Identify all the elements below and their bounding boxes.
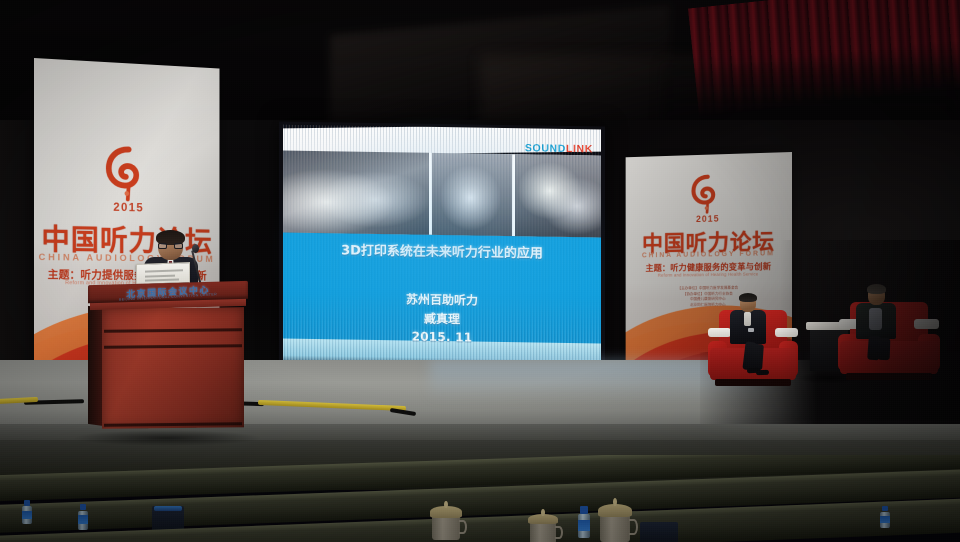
speaker-nameplate — [136, 262, 190, 285]
podium-front-panel — [102, 307, 244, 428]
lidded-teacup — [432, 506, 460, 540]
guest-hair — [867, 284, 886, 294]
ear-spiral-logo — [689, 172, 726, 216]
lidded-teacup — [600, 504, 630, 542]
smiling-child-photo — [515, 154, 601, 237]
boy-with-hearing-aid-photo — [283, 151, 429, 235]
soundlink-logo-link: LINK — [566, 143, 593, 155]
guest-leg — [751, 344, 764, 371]
guest-hair — [739, 293, 757, 302]
eyeglasses — [158, 243, 183, 249]
seated-guest-with-phone — [726, 294, 784, 386]
water-bottle — [22, 500, 32, 524]
projection-screen: SOUNDLINK 3D打印系统在未来听力行业的应用 苏州百助听力 臧真理 20… — [279, 121, 605, 374]
banner-title-en: CHINA AUDIOLOGY FORUM — [626, 250, 792, 260]
guest-shirt — [744, 312, 751, 326]
slide-photo-strip — [283, 151, 601, 238]
child-hearing-test-photo — [432, 153, 512, 236]
soundlink-logo-sound: SOUND — [525, 142, 566, 155]
soundlink-logo: SOUNDLINK — [525, 142, 593, 155]
dark-container — [640, 522, 678, 542]
wooden-podium: 北京国际会议中心 BEIJING INTERNATIONAL CONVENTIO… — [88, 283, 248, 441]
guest-shoe — [756, 370, 769, 375]
lidded-teacup — [530, 514, 556, 542]
conference-stage-photo: 2015 中国听力论坛 CHINA AUDIOLOGY FORUM 主题：听力提… — [0, 0, 960, 542]
water-bottle — [578, 506, 590, 538]
microphone-head — [192, 244, 199, 253]
projection-screen-surface: SOUNDLINK 3D打印系统在未来听力行业的应用 苏州百助听力 臧真理 20… — [283, 125, 601, 372]
slide-subtitle-block: 苏州百助听力 臧真理 2015. 11 — [283, 289, 601, 350]
seated-guest — [852, 286, 918, 382]
foreground-audience-seats — [0, 455, 960, 542]
banner-year: 2015 — [626, 212, 792, 225]
mobile-phone — [748, 328, 754, 332]
banner-year: 2015 — [34, 198, 219, 216]
water-bottle — [78, 504, 88, 530]
ear-spiral-logo — [103, 143, 154, 205]
water-bottle — [880, 506, 890, 528]
guest-leg — [878, 338, 891, 360]
guest-shirt — [869, 308, 882, 330]
